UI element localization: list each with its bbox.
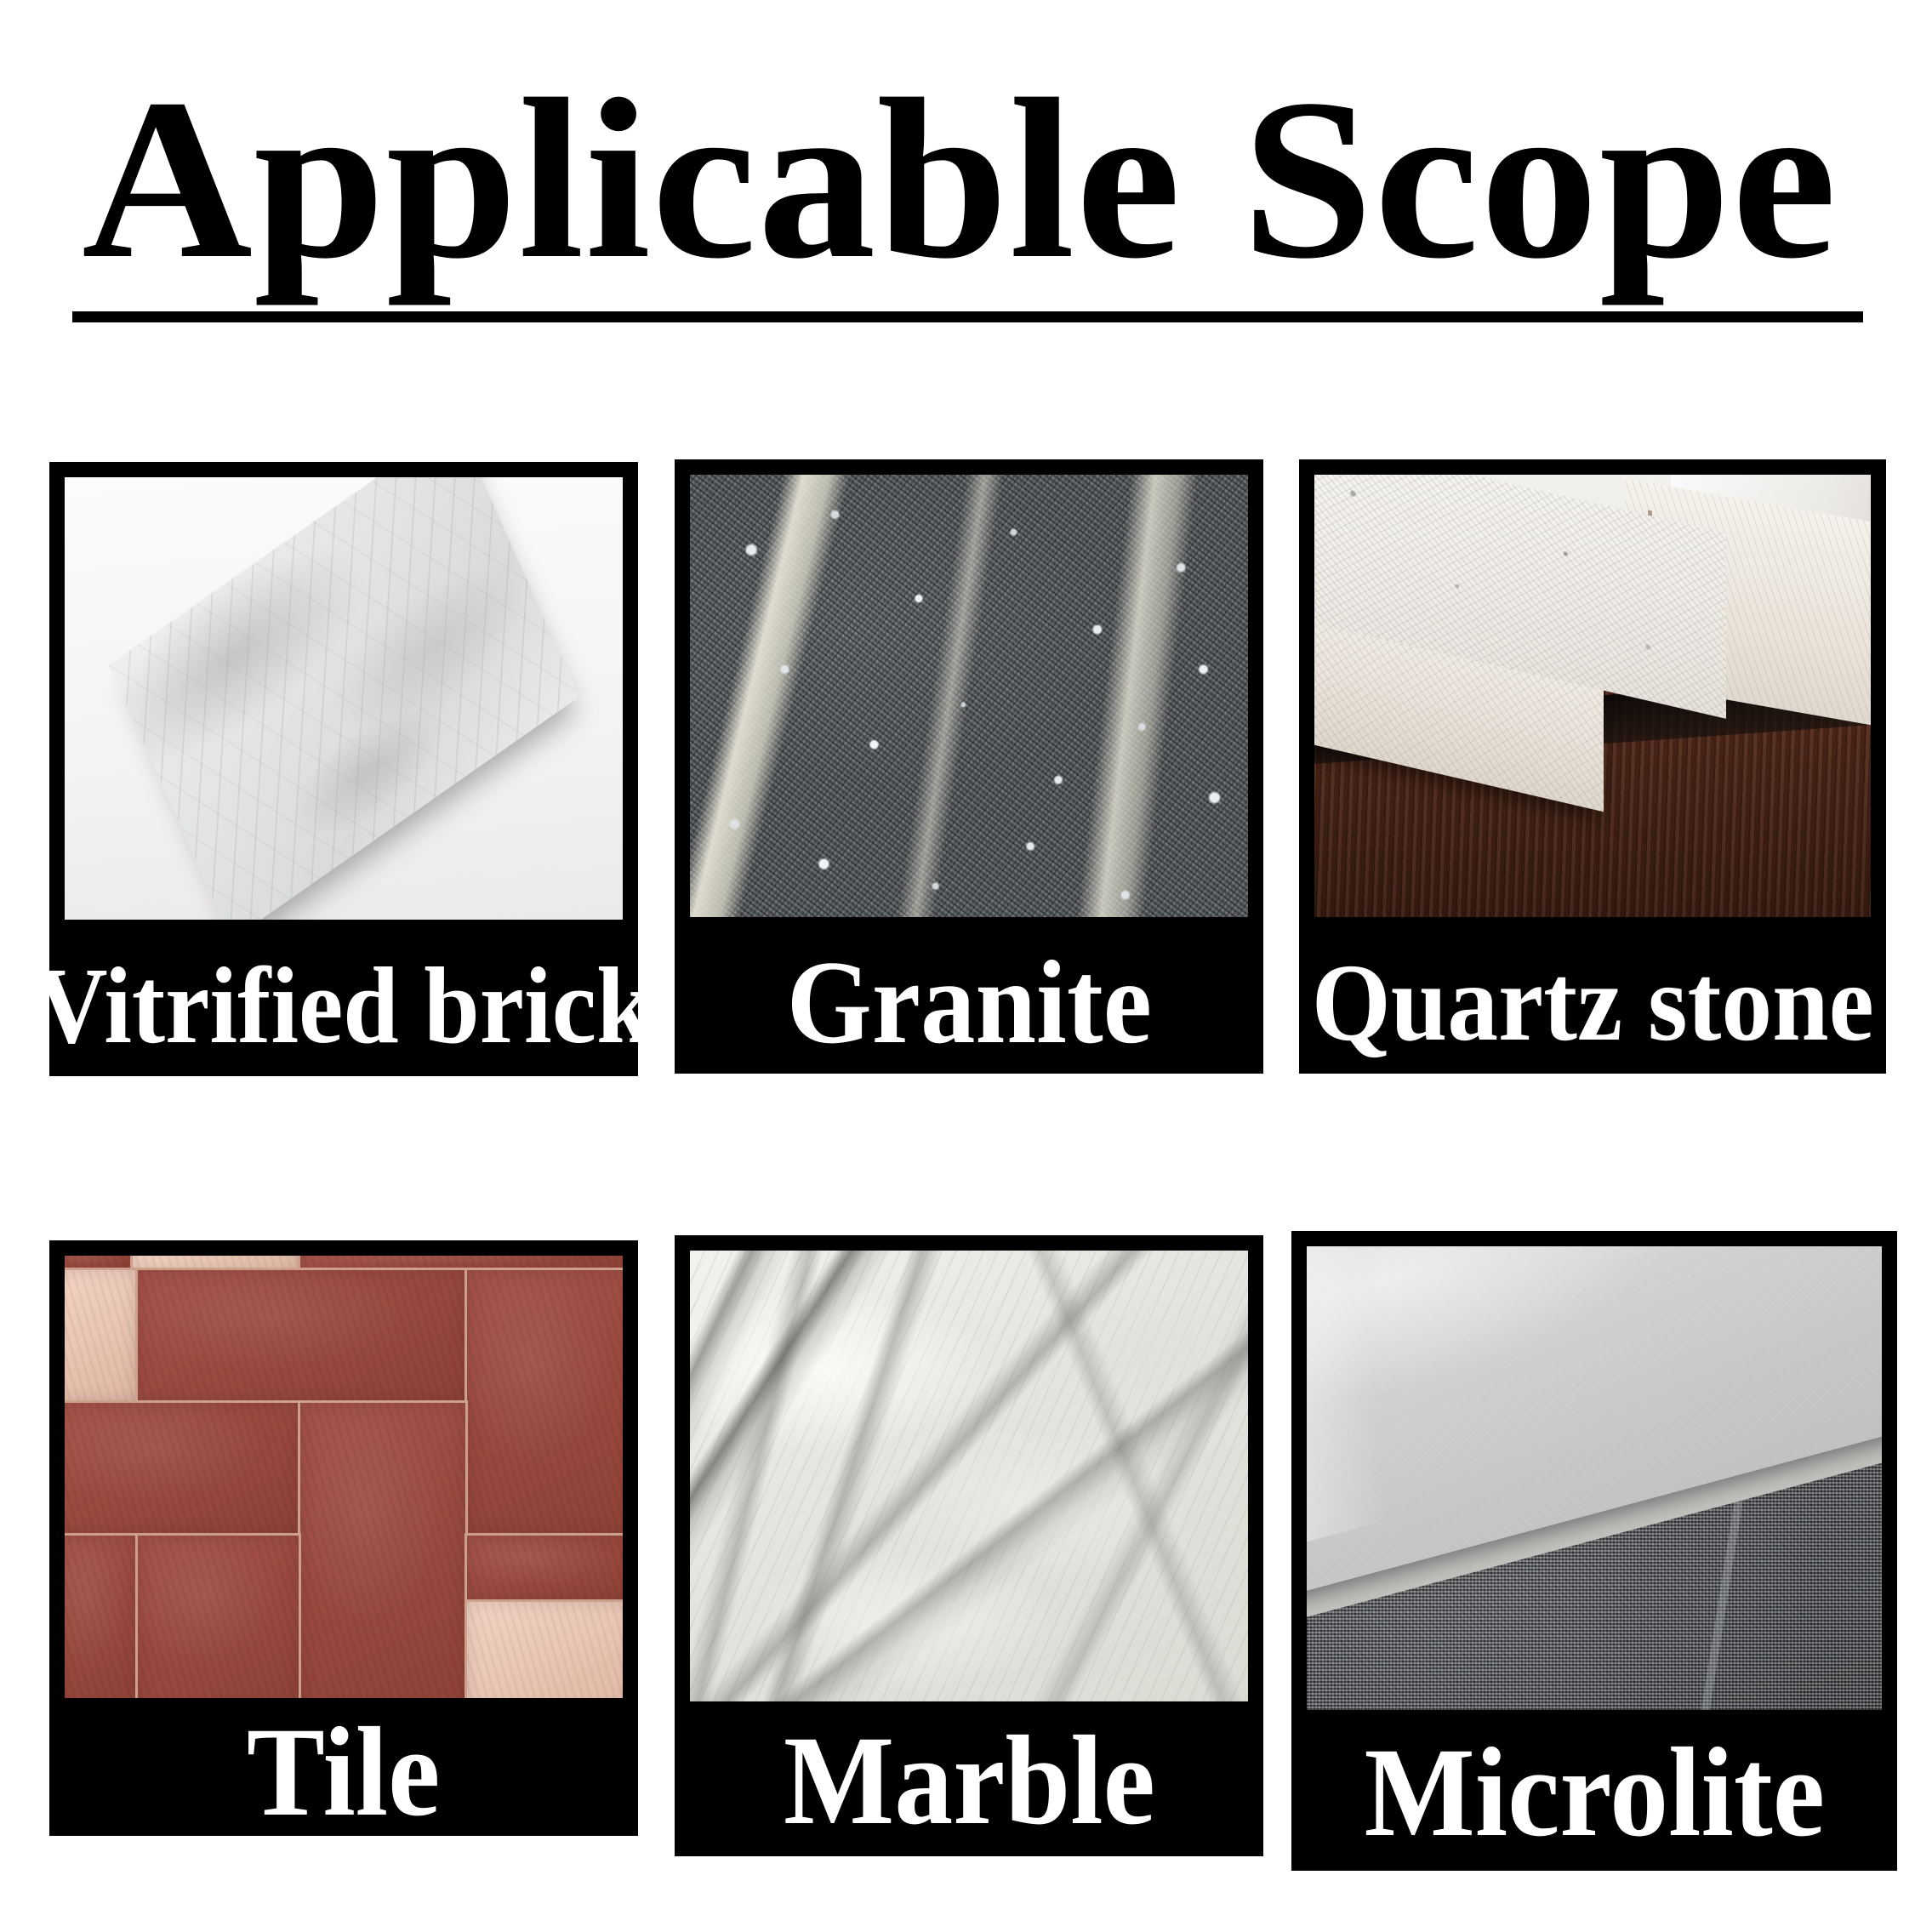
tile-unit [466, 1601, 623, 1698]
tile-unit [65, 1269, 137, 1402]
material-card-microlite[interactable]: Microlite [1291, 1231, 1897, 1871]
slab-face-shape [109, 477, 578, 920]
vitrified-brick-photo [65, 477, 623, 920]
tile-unit [466, 1535, 623, 1601]
material-card-tile[interactable]: Tile [49, 1240, 638, 1836]
card-label-tile: Tile [49, 1708, 638, 1836]
marble-texture-photo-icon [690, 1251, 1248, 1701]
card-label-text: Vitrified brick [49, 951, 638, 1060]
granite-photo [690, 475, 1248, 917]
card-label-quartz-stone: Quartz stone [1299, 932, 1886, 1074]
tile-slab-photo-icon [65, 477, 623, 920]
card-label-granite: Granite [675, 932, 1263, 1074]
material-card-quartz-stone[interactable]: Quartz stone [1299, 459, 1886, 1074]
card-label-text: Microlite [1364, 1729, 1824, 1856]
card-label-text: Granite [786, 943, 1151, 1063]
tile-unit [137, 1535, 299, 1698]
card-label-text: Marble [784, 1717, 1155, 1844]
tile-unit [299, 1402, 467, 1698]
tile-unit [466, 1269, 623, 1535]
tile-unit [137, 1269, 466, 1402]
quartz-stone-photo [1314, 475, 1871, 917]
card-label-microlite: Microlite [1291, 1713, 1897, 1871]
card-label-text: Tile [247, 1708, 440, 1836]
granite-texture-photo-icon [690, 475, 1248, 917]
material-card-marble[interactable]: Marble [675, 1235, 1263, 1856]
card-label-marble: Marble [675, 1705, 1263, 1856]
tile-unit [65, 1402, 299, 1535]
marble-photo [690, 1251, 1248, 1701]
card-label-text: Quartz stone [1311, 948, 1873, 1058]
material-card-vitrified-brick[interactable]: Vitrified brick [49, 462, 638, 1076]
tile-unit [65, 1535, 137, 1698]
tile-photo [65, 1256, 623, 1698]
material-card-granite[interactable]: Granite [675, 459, 1263, 1074]
microlite-slab-photo-icon [1307, 1246, 1882, 1710]
microlite-photo [1307, 1246, 1882, 1710]
quartz-countertop-photo-icon [1314, 475, 1871, 917]
card-label-vitrified-brick: Vitrified brick [49, 935, 638, 1076]
material-card-grid: Vitrified brick Granite Quartz ston [0, 0, 1932, 1932]
terracotta-tile-photo-icon [65, 1256, 623, 1698]
